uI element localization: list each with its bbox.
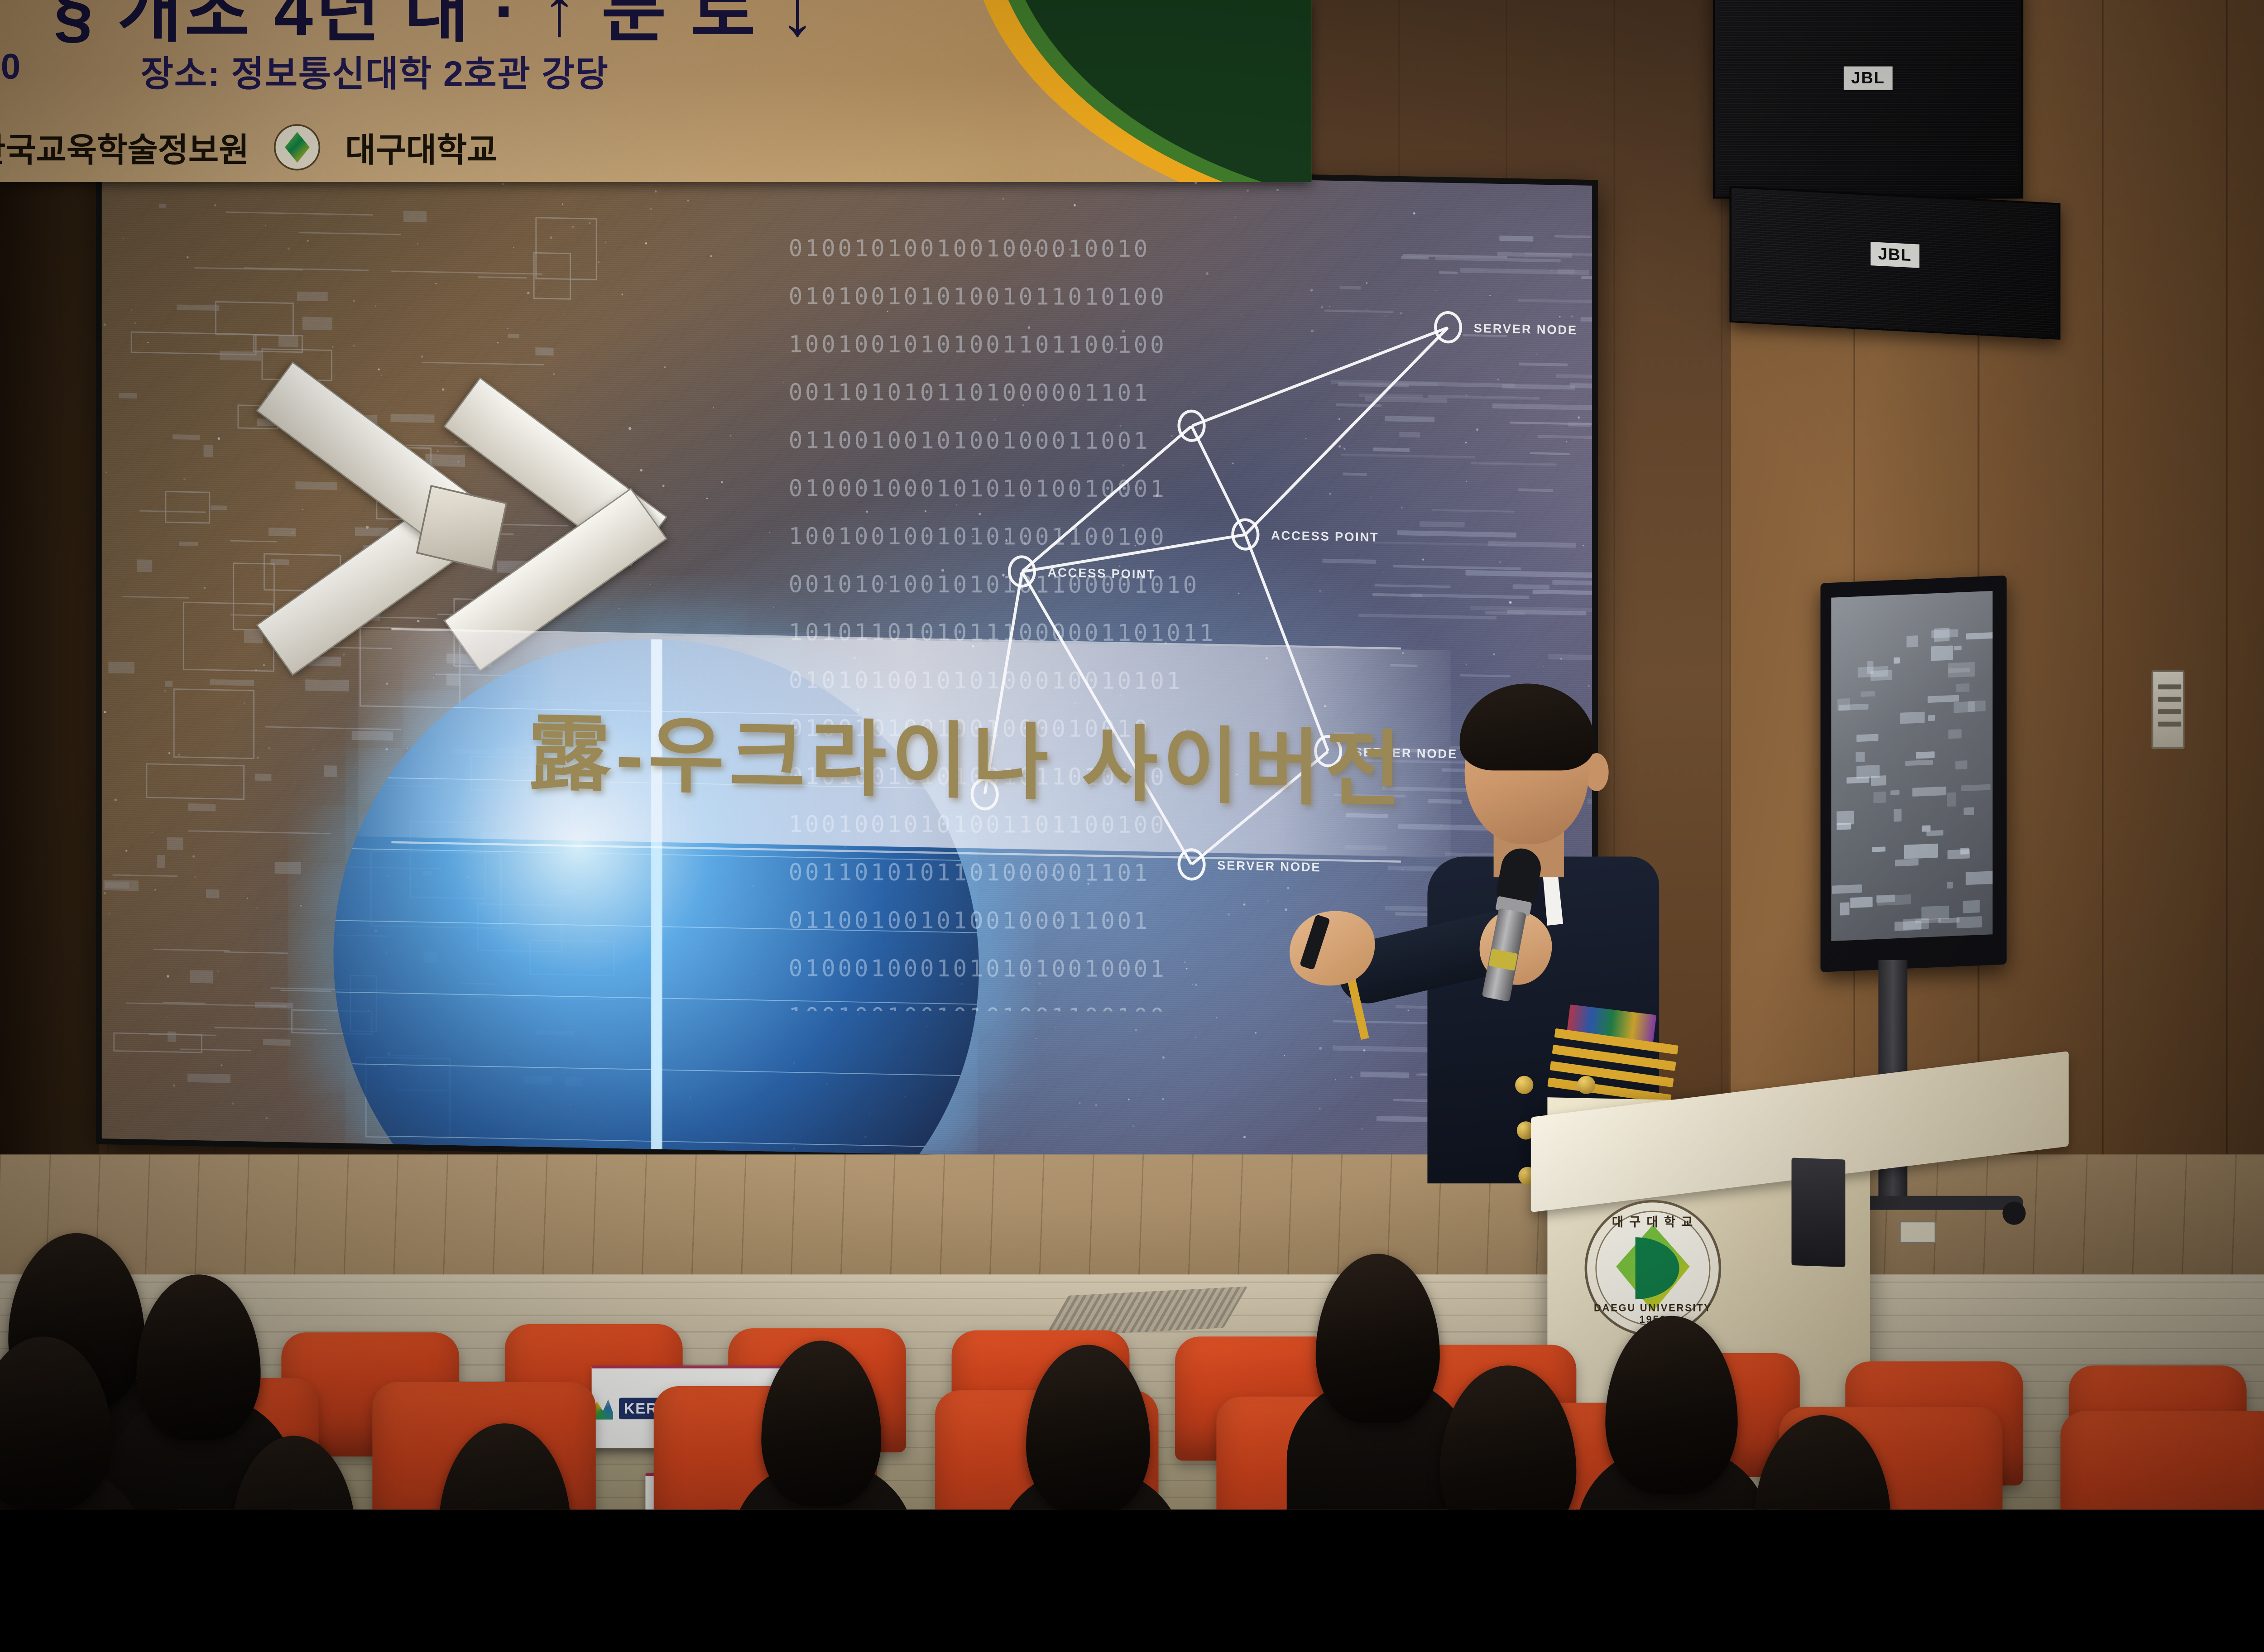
slide-title: 露-우크라이나 사이버전 — [528, 686, 1406, 822]
podium-control-panel — [1792, 1157, 1846, 1267]
jbl-speaker-upper: JBL — [1713, 0, 2023, 199]
podium-logo-korean-text: 대 구 대 학 교 — [1587, 1211, 1719, 1229]
banner-organizers: 한국교육학술정보원 대구대학교 — [0, 123, 498, 171]
auditorium-seat — [2060, 1411, 2264, 1509]
podium-university-logo: 대 구 대 학 교 DAEGU UNIVERSITY 1956 — [1585, 1200, 1722, 1337]
jbl-logo: JBL — [1844, 67, 1892, 90]
presenter-hair — [1460, 684, 1595, 771]
daegu-university-logo-icon — [274, 124, 320, 170]
jbl-speaker-lower: JBL — [1729, 186, 2060, 340]
speaker-grille — [1718, 0, 2018, 193]
caster-wheel — [2003, 1202, 2026, 1225]
organizer-daegu-label: 대구대학교 — [345, 123, 497, 171]
scene-photo: 0100101001001000010010 01010010101001011… — [0, 0, 2264, 1509]
event-banner: § 개초 4년 대 · ↑ 분 로 ↓ 00 장소: 정보통신대학 2호관 강당… — [0, 0, 1312, 182]
organizer-keris-label: 한국교육학술정보원 — [0, 123, 249, 171]
banner-time: 00 — [0, 46, 22, 87]
podium-logo-leaf — [1636, 1237, 1679, 1299]
jbl-logo: JBL — [1871, 242, 1919, 268]
banner-place: 장소: 정보통신대학 2호관 강당 — [141, 45, 609, 96]
podium-switch — [1899, 1221, 1936, 1244]
confidence-monitor-screen — [1831, 591, 1992, 941]
confidence-monitor — [1820, 576, 2006, 972]
wall-outlet-box — [2151, 670, 2184, 749]
